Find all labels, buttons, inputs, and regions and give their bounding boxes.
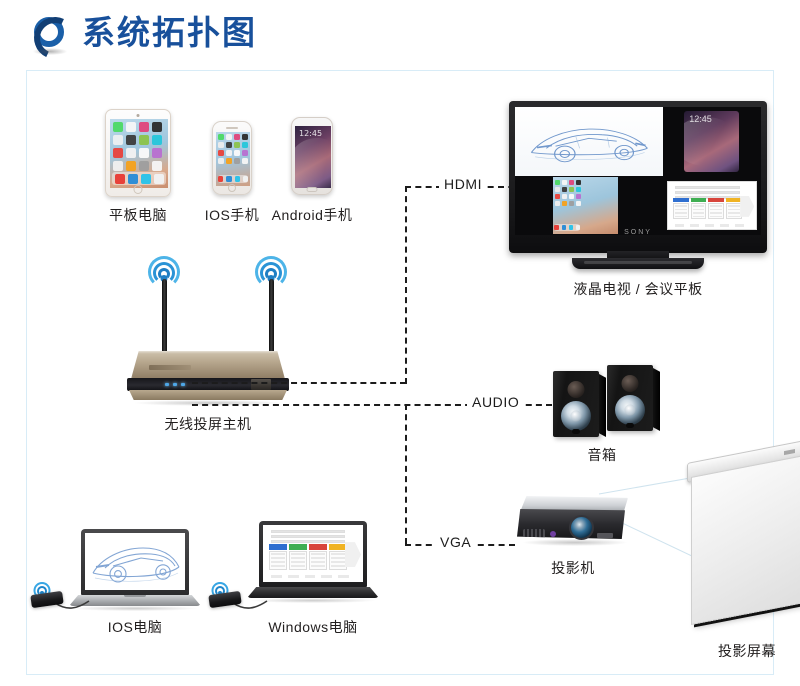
projector-icon <box>517 496 629 544</box>
tablet-camera <box>137 114 140 117</box>
phone-home-button <box>228 184 236 192</box>
tablet-icon <box>105 109 171 197</box>
sheet-top-rows <box>271 530 345 543</box>
page-title: 系统拓扑图 <box>82 10 257 56</box>
sheet-top-rows <box>675 186 741 196</box>
spreadsheet-mirror-image <box>667 181 758 230</box>
tv-quadrant-car-sketch <box>515 107 663 176</box>
tv-screen: 12:45 <box>515 107 761 235</box>
woofer-driver <box>615 395 645 425</box>
node-projector[interactable]: 投影机 <box>517 496 629 586</box>
lcd-tv-icon: 12:45 <box>509 101 767 253</box>
node-label-wireless-host: 无线投屏主机 <box>127 414 289 434</box>
router-port <box>251 379 271 390</box>
tweeter-driver <box>622 375 639 392</box>
wireless-router-icon <box>127 351 289 403</box>
sheet-columns <box>673 203 742 219</box>
projection-screen-icon <box>691 453 800 625</box>
bass-port <box>572 429 580 434</box>
speaker-side-panel <box>599 374 606 437</box>
android-home-button <box>307 187 318 192</box>
antenna-left <box>162 279 167 357</box>
page-header: 系统拓扑图 <box>0 0 800 70</box>
tablet-mirror-image <box>553 177 618 234</box>
status-led <box>181 383 185 386</box>
windows-laptop-icon <box>259 521 367 587</box>
status-led <box>173 383 177 386</box>
tablet-dock <box>112 172 166 185</box>
node-label-ios-phone: IOS手机 <box>197 205 267 225</box>
laptop-notch <box>124 595 146 597</box>
node-label-projection-screen: 投影屏幕 <box>677 641 800 661</box>
tv-stand-gloss <box>584 261 692 264</box>
projector-shadow <box>523 539 627 546</box>
blue-ring-icon <box>34 17 64 47</box>
node-tablet[interactable]: 平板电脑 <box>105 109 171 219</box>
tablet-mirror-dock <box>554 224 580 231</box>
router-top-shell <box>131 351 285 379</box>
router-base <box>129 390 287 400</box>
ios-phone-icon <box>212 121 252 195</box>
tv-quadrant-android-mirror: 12:45 <box>663 107 761 176</box>
ios-phone-screen <box>216 132 250 186</box>
sheet-arrow-shape <box>740 196 754 217</box>
speaker-right <box>607 365 653 431</box>
projector-badge <box>597 533 613 538</box>
node-wireless-host[interactable]: 无线投屏主机 <box>127 266 289 356</box>
speaker-left <box>553 371 599 437</box>
android-phone-icon: 12:45 <box>291 117 333 195</box>
sheet-columns <box>269 551 347 570</box>
node-android-phone[interactable]: 12:45 Android手机 <box>291 117 333 219</box>
bass-port <box>626 423 634 428</box>
android-phone-screen: 12:45 <box>295 126 331 188</box>
node-projection-screen[interactable]: 投影屏幕 <box>687 463 800 673</box>
app-icon-grid <box>218 134 248 164</box>
tv-quadrant-tablet-mirror <box>515 176 663 235</box>
node-ios-laptop[interactable]: IOS电脑 <box>69 529 201 639</box>
car-sketch-drawing <box>85 533 185 590</box>
laptop-shadow <box>73 606 197 611</box>
tablet-screen <box>110 119 168 188</box>
tv-stand-base <box>572 258 704 269</box>
node-label-lcd-tv: 液晶电视 / 会议平板 <box>509 279 767 299</box>
tv-phone-time: 12:45 <box>689 114 712 124</box>
projector-indicator <box>550 531 556 537</box>
connector-hdmi-segment-v <box>405 186 407 384</box>
node-lcd-tv[interactable]: 12:45 <box>509 101 767 306</box>
windows-laptop-screen <box>263 525 363 582</box>
node-label-projector: 投影机 <box>517 558 629 578</box>
tv-quadrant-spreadsheet <box>663 176 761 235</box>
wifi-dongle-icon[interactable] <box>209 591 243 607</box>
sheet-footer-labels <box>675 223 744 227</box>
node-label-tablet: 平板电脑 <box>105 205 171 225</box>
node-label-android-phone: Android手机 <box>262 205 362 225</box>
node-ios-phone[interactable]: IOS手机 <box>212 121 252 219</box>
router-brand-mark <box>149 365 191 370</box>
node-label-windows-laptop: Windows电脑 <box>247 617 379 637</box>
sheet-color-headers <box>269 544 347 549</box>
connection-label-hdmi: HDMI <box>439 176 487 192</box>
projector-lens <box>569 515 594 540</box>
laptop-shadow <box>251 598 375 603</box>
android-status-time: 12:45 <box>299 129 322 138</box>
antenna-right <box>269 279 274 357</box>
sheet-footer-labels <box>271 575 349 580</box>
ios-dock <box>218 175 248 183</box>
macbook-icon <box>81 529 189 595</box>
ring-icon-shadow <box>33 48 67 55</box>
phone-speaker <box>226 127 238 129</box>
sheet-color-headers <box>673 198 742 202</box>
connector-vga-segment-v <box>405 404 407 544</box>
status-led <box>165 383 169 386</box>
ios-laptop-screen <box>85 533 185 590</box>
node-windows-laptop[interactable]: Windows电脑 <box>247 521 379 631</box>
speaker-side-panel <box>653 368 660 431</box>
woofer-driver <box>561 401 591 431</box>
connection-label-audio: AUDIO <box>467 394 524 410</box>
connection-label-vga: VGA <box>435 534 476 550</box>
router-front-panel <box>127 378 289 391</box>
tablet-home-button <box>134 185 143 194</box>
node-label-ios-laptop: IOS电脑 <box>69 617 201 637</box>
spreadsheet-graphic <box>263 525 363 582</box>
tweeter-driver <box>568 381 585 398</box>
tv-brand-label: SONY <box>624 229 652 235</box>
connector-hdmi-segment-h <box>192 382 406 384</box>
node-label-speakers: 音箱 <box>541 445 663 465</box>
car-sketch-drawing <box>524 117 654 167</box>
android-mirror-image: 12:45 <box>684 111 739 172</box>
topology-diagram: 平板电脑 IOS手机 <box>26 70 774 675</box>
screen-brand-mark <box>784 449 795 455</box>
app-icon-grid <box>555 180 581 206</box>
wifi-dongle-icon[interactable] <box>31 591 65 607</box>
app-icon-grid <box>113 122 162 171</box>
topology-page: 系统拓扑图 平板电脑 <box>0 0 800 686</box>
node-speakers[interactable]: 音箱 <box>541 361 663 461</box>
spreadsheet-graphic <box>668 182 757 229</box>
sheet-arrow-shape <box>345 542 361 567</box>
